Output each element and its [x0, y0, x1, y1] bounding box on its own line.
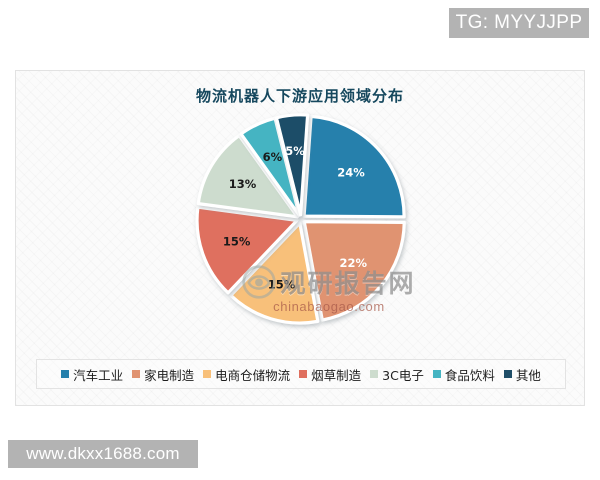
- pie-chart-svg: 24%22%15%15%13%6%5%: [16, 111, 585, 351]
- pie-slice-value-label: 24%: [337, 166, 365, 180]
- pie-slice-value-label: 5%: [285, 144, 305, 158]
- legend-item[interactable]: 其他: [504, 365, 541, 384]
- pie-slice-value-label: 13%: [229, 177, 257, 191]
- pie-chart: 24%22%15%15%13%6%5%: [16, 111, 585, 351]
- legend-item-label: 家电制造: [144, 365, 194, 384]
- legend-item[interactable]: 烟草制造: [299, 365, 361, 384]
- legend-swatch-icon: [433, 370, 441, 378]
- legend-swatch-icon: [370, 370, 378, 378]
- legend-swatch-icon: [299, 370, 307, 378]
- chart-card: 物流机器人下游应用领域分布 24%22%15%15%13%6%5% 观研报告网 …: [15, 70, 585, 406]
- legend-item-label: 电商仓储物流: [215, 365, 290, 384]
- legend-item[interactable]: 家电制造: [132, 365, 194, 384]
- legend-item-label: 食品饮料: [445, 365, 495, 384]
- legend-swatch-icon: [61, 370, 69, 378]
- tg-watermark-badge: TG: MYYJJPP: [449, 8, 589, 38]
- legend-swatch-icon: [504, 370, 512, 378]
- site-watermark-badge: www.dkxx1688.com: [8, 440, 198, 468]
- legend-item-label: 汽车工业: [73, 365, 123, 384]
- chart-legend: 汽车工业家电制造电商仓储物流烟草制造3C电子食品饮料其他: [36, 359, 566, 389]
- legend-item-label: 3C电子: [382, 365, 424, 384]
- pie-slice-value-label: 22%: [339, 256, 367, 270]
- legend-swatch-icon: [132, 370, 140, 378]
- pie-slice-value-label: 6%: [263, 150, 283, 164]
- legend-item[interactable]: 3C电子: [370, 365, 424, 384]
- legend-item[interactable]: 汽车工业: [61, 365, 123, 384]
- legend-item[interactable]: 食品饮料: [433, 365, 495, 384]
- pie-slice[interactable]: [304, 222, 404, 320]
- legend-item-label: 烟草制造: [311, 365, 361, 384]
- pie-slice-value-label: 15%: [268, 277, 296, 291]
- chart-title: 物流机器人下游应用领域分布: [16, 85, 584, 106]
- legend-item[interactable]: 电商仓储物流: [203, 365, 290, 384]
- pie-slice-value-label: 15%: [223, 235, 251, 249]
- legend-item-label: 其他: [516, 365, 541, 384]
- legend-swatch-icon: [203, 370, 211, 378]
